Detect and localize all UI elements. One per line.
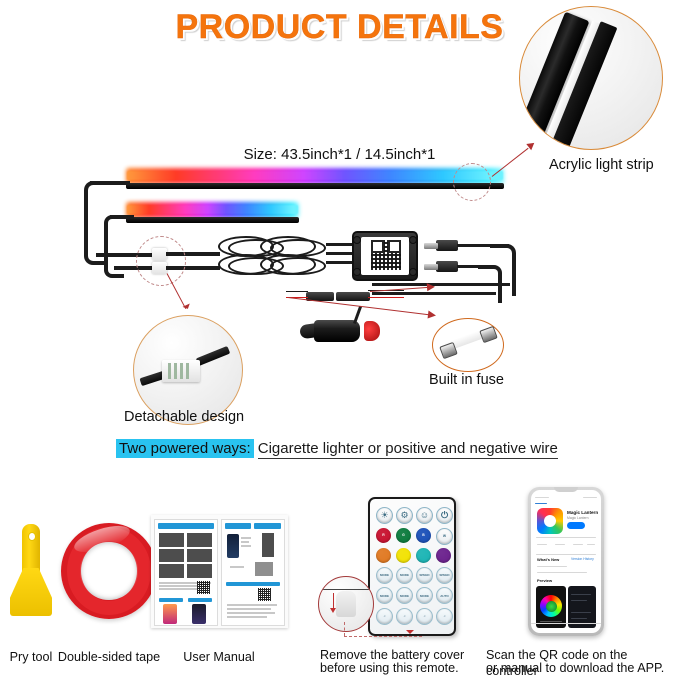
remote-button-5-3[interactable]: ♫ [436, 608, 453, 625]
remote-button-2-0[interactable] [376, 548, 391, 563]
plug-red-tip [364, 321, 380, 341]
controller-screw [409, 236, 417, 244]
remote-button-4-2[interactable]: MODE [416, 587, 433, 604]
remote-button-4-1[interactable]: MODE [396, 587, 413, 604]
two-powered-ways-note: Two powered ways:Cigarette lighter or po… [116, 440, 558, 457]
manual-photo [262, 533, 274, 557]
manual-text-line [241, 537, 251, 539]
detachable-label: Detachable design [124, 409, 244, 425]
pry-tool-hole [28, 532, 36, 541]
remote-button-2-1[interactable] [396, 548, 411, 563]
manual-photo [159, 564, 184, 578]
manual-text-line [227, 608, 271, 610]
built-in-fuse-photo [432, 318, 504, 372]
remote-button-2-3[interactable] [436, 548, 451, 563]
app-preview-left [536, 586, 566, 628]
user-manual [151, 515, 288, 628]
manual-text-line [227, 604, 277, 606]
preview-heading: Preview [537, 578, 552, 583]
dc-barrel-plug [424, 261, 458, 272]
strip-zoom-marker [453, 163, 491, 201]
remote-button-5-2[interactable]: ♫ [416, 608, 433, 625]
cigarette-lighter-plug [300, 318, 374, 344]
controller-label [361, 237, 409, 275]
fuse-label: Built in fuse [429, 372, 504, 388]
color-wheel [540, 595, 562, 617]
back-nav-line [535, 503, 547, 504]
phone-notch [554, 487, 578, 492]
preview-row [571, 612, 591, 613]
harness-wire [326, 252, 354, 255]
rating-line [573, 544, 583, 545]
remote-caption-line2: before using this remote. [320, 661, 459, 677]
manual-section-bar [159, 598, 183, 602]
app-caption-line2: or manual to download the APP. [486, 661, 664, 677]
remote-button-1-0[interactable]: R [376, 528, 391, 543]
divider [536, 537, 596, 538]
manual-phone-shot [192, 604, 206, 624]
dc-plug-body [436, 261, 458, 272]
app-preview-right [568, 586, 596, 628]
pry-tool-label: Pry tool [0, 650, 62, 666]
manual-photo [187, 549, 212, 562]
manual-page-header [158, 523, 214, 529]
manual-page-right [221, 519, 285, 626]
harness-wire [326, 261, 354, 264]
controller-screw [353, 268, 361, 276]
battery-tab-callout [318, 576, 374, 632]
whats-new-heading: What's New [537, 557, 559, 562]
manual-qr-code [197, 581, 210, 594]
remote-button-4-3[interactable]: AUTO [436, 587, 453, 604]
manual-photo [187, 564, 212, 578]
manual-section-bar [226, 582, 280, 586]
pry-tool-blade [10, 568, 52, 616]
controller-screw [409, 268, 417, 276]
harness-wire [326, 243, 354, 246]
battery-callout-connector-v [344, 622, 345, 636]
phone-screen: Magic Lantern Magic Lantern What's New V… [531, 490, 601, 633]
qr-code-icon [371, 240, 401, 270]
remote-button-5-1[interactable]: ♫ [396, 608, 413, 625]
double-sided-tape-label: Double-sided tape [54, 650, 164, 666]
remote-button-3-2[interactable]: SPEED [416, 567, 433, 584]
cable-coil [218, 236, 338, 276]
manual-section-bar [188, 598, 212, 602]
remote-button-1-2[interactable]: B [416, 528, 431, 543]
fuse-arrow-2-head [427, 283, 436, 292]
manual-phone-shot [227, 534, 239, 558]
app-icon [537, 508, 563, 534]
whats-new-text [537, 572, 587, 573]
dc-plug-tip [424, 264, 438, 270]
strip-base [126, 183, 504, 189]
remote-button-1-3[interactable]: W [436, 528, 453, 545]
battery-callout-connector [344, 636, 422, 637]
remote-button-3-3[interactable]: SPEED [436, 567, 453, 584]
white-connector [162, 360, 200, 382]
remote-button-0-0[interactable]: ☀ [376, 507, 393, 524]
preview-row [571, 600, 587, 601]
manual-text-line [230, 566, 244, 568]
remote-button-0-2[interactable]: ☺ [416, 507, 433, 524]
positive-wire [368, 297, 404, 298]
app-name: Magic Lantern [567, 510, 598, 515]
ir-remote-control[interactable]: ☀⚙☺⏻RGBWMODEMODESPEEDSPEEDMODEMODEMODEAU… [368, 497, 456, 636]
harness-wire [372, 283, 510, 286]
preview-row [571, 594, 591, 595]
controller-screw [353, 236, 361, 244]
connector-lead-right [196, 346, 231, 366]
remote-edge-line [319, 589, 373, 590]
fuse-arrow-head [428, 311, 437, 320]
remote-button-1-1[interactable]: G [396, 528, 411, 543]
strip-base [126, 217, 299, 223]
status-bar-line [535, 497, 549, 498]
app-developer: Magic Lantern [567, 516, 589, 520]
manual-text-line [241, 541, 249, 543]
acrylic-label: Acrylic light strip [549, 157, 654, 173]
manual-photo [255, 562, 273, 576]
strip-core [127, 205, 298, 214]
manual-text-line [227, 616, 267, 618]
remote-pointer-head [406, 630, 414, 634]
double-sided-tape [61, 523, 157, 619]
led-controller [352, 231, 418, 281]
dc-plug-body [436, 240, 458, 251]
status-bar-line [583, 497, 597, 498]
divider [536, 554, 596, 555]
manual-phone-shot [163, 604, 177, 624]
manual-text-line [227, 612, 275, 614]
remote-button-3-1[interactable]: MODE [396, 567, 413, 584]
tab-bar-divider [531, 623, 601, 624]
pry-tool [10, 524, 52, 616]
dc-barrel-plug [424, 240, 458, 251]
manual-qr-code [258, 588, 271, 601]
remote-button-3-0[interactable]: MODE [376, 567, 393, 584]
strip-core [127, 171, 503, 180]
connector-zoom-marker [136, 236, 186, 286]
remote-button-0-1[interactable]: ⚙ [396, 507, 413, 524]
manual-text-line [241, 545, 251, 547]
fuse-holder-segment [336, 292, 370, 301]
rating-line [537, 544, 547, 545]
smartphone-app-screenshot: Magic Lantern Magic Lantern What's New V… [528, 487, 604, 636]
battery-insulation-tab [336, 591, 356, 617]
battery-pull-arrow-head [330, 608, 336, 613]
manual-photo [159, 533, 184, 547]
dc-plug-tip [424, 243, 438, 249]
remote-button-grid: ☀⚙☺⏻RGBWMODEMODESPEEDSPEEDMODEMODEMODEAU… [376, 507, 448, 625]
remote-button-5-0[interactable]: ♫ [376, 608, 393, 625]
harness-wire [372, 292, 496, 295]
light-strip-short [126, 202, 299, 226]
remote-button-2-2[interactable] [416, 548, 431, 563]
whats-new-text [537, 566, 567, 567]
user-manual-label: User Manual [152, 650, 286, 666]
preview-row [571, 618, 587, 619]
acrylic-strip-photo [519, 6, 663, 150]
manual-page-header [254, 523, 281, 529]
rating-line [555, 544, 565, 545]
powered-ways-text: Cigarette lighter or positive and negati… [258, 440, 558, 459]
rating-line [587, 544, 595, 545]
manual-photo [159, 549, 184, 562]
battery-pull-arrow [333, 593, 334, 609]
app-get-button[interactable] [567, 522, 585, 529]
remote-button-0-3[interactable]: ⏻ [436, 507, 453, 524]
light-strip-long [126, 168, 504, 192]
powered-ways-highlight: Two powered ways: [116, 439, 254, 458]
manual-page-left [154, 519, 218, 626]
preview-slider [540, 621, 562, 622]
version-history-link[interactable]: Version History [571, 557, 594, 561]
remote-button-4-0[interactable]: MODE [376, 587, 393, 604]
manual-photo [187, 533, 212, 547]
manual-page-header [225, 523, 251, 529]
negative-wire [286, 291, 308, 292]
